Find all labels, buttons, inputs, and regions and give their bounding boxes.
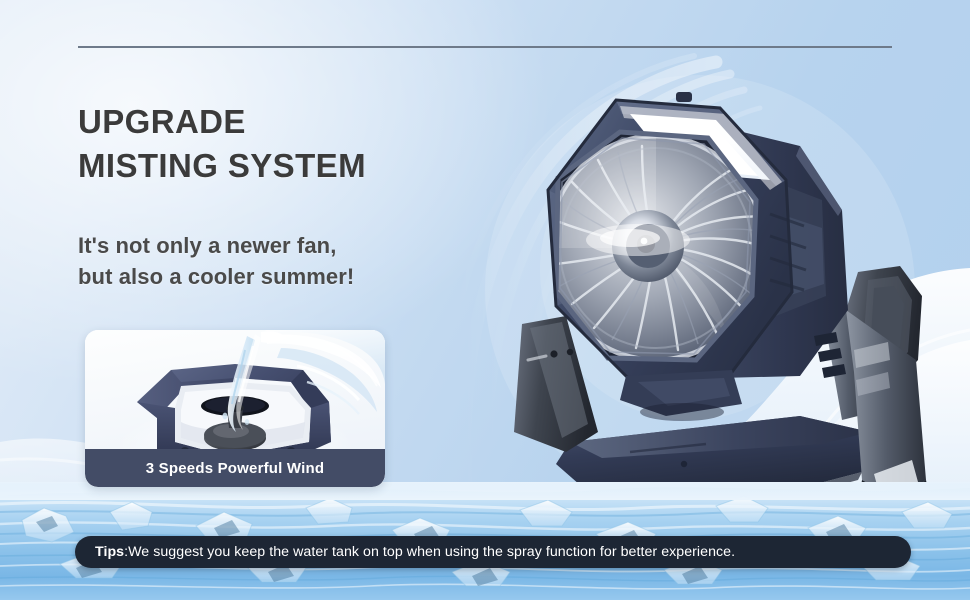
tips-label: Tips [95, 544, 124, 560]
page-title: UPGRADE MISTING SYSTEM [78, 100, 366, 188]
subheading: It's not only a newer fan, but also a co… [78, 230, 354, 292]
subcopy-line-2: but also a cooler summer! [78, 261, 354, 292]
feature-card-water-tank[interactable]: 3 Speeds Powerful Wind [85, 330, 385, 487]
headline-line-2: MISTING SYSTEM [78, 144, 366, 188]
subcopy-line-1: It's not only a newer fan, [78, 233, 336, 258]
feature-card-caption: 3 Speeds Powerful Wind [85, 449, 385, 487]
promo-banner: UPGRADE MISTING SYSTEM It's not only a n… [0, 0, 970, 600]
product-image-misting-fan [470, 60, 940, 530]
top-divider-rule [78, 46, 892, 48]
headline-line-1: UPGRADE [78, 103, 246, 140]
tips-text: We suggest you keep the water tank on to… [128, 544, 735, 560]
tips-banner: Tips: We suggest you keep the water tank… [75, 536, 911, 568]
